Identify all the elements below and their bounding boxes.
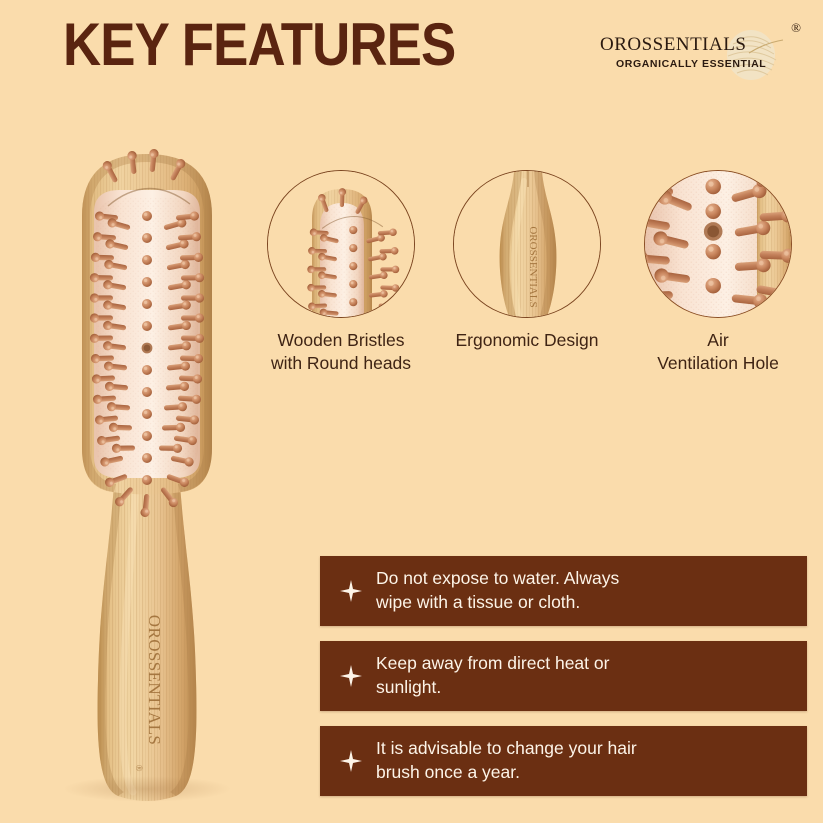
care-tip-item[interactable]: Keep away from direct heat or sunlight. (320, 641, 807, 711)
product-image-hair-brush: OROSSENTIALS ® (52, 120, 242, 810)
feature-label-air-ventilation: Air Ventilation Hole (635, 329, 801, 375)
logo-tagline: ORGANICALLY ESSENTIAL (616, 58, 766, 70)
page-title: KEY FEATURES (63, 13, 455, 76)
feature-callout-ergonomic-design[interactable]: OROSSENTIALS Ergonomic Design (444, 170, 610, 352)
svg-text:®: ® (134, 765, 144, 772)
care-tips-list: Do not expose to water. Always wipe with… (320, 556, 807, 811)
logo-wordmark: OROSSENTIALS (600, 34, 746, 56)
brush-head-closeup-icon (267, 170, 415, 318)
care-tip-text: Do not expose to water. Always wipe with… (366, 567, 619, 615)
sparkle-icon (336, 580, 366, 602)
brand-logo: OROSSENTIALS ORGANICALLY ESSENTIAL ® (592, 18, 807, 90)
infographic-canvas: KEY FEATURES OROSSENTIALS ORGANICALLY ES… (0, 0, 823, 823)
care-tip-text: It is advisable to change your hair brus… (366, 737, 637, 785)
feature-callout-wooden-bristles[interactable]: Wooden Bristles with Round heads (258, 170, 424, 375)
feature-callouts: Wooden Bristles with Round heads OROSSEN… (258, 170, 814, 390)
sparkle-icon (336, 750, 366, 772)
sparkle-icon (336, 665, 366, 687)
air-ventilation-hole (142, 343, 153, 354)
care-tip-text: Keep away from direct heat or sunlight. (366, 652, 609, 700)
svg-text:OROSSENTIALS: OROSSENTIALS (145, 615, 164, 745)
product-shadow (62, 776, 232, 802)
registered-trademark-icon: ® (791, 20, 801, 36)
feature-label-wooden-bristles: Wooden Bristles with Round heads (258, 329, 424, 375)
brush-illustration: OROSSENTIALS ® (52, 120, 242, 810)
feature-label-ergonomic-design: Ergonomic Design (444, 329, 610, 352)
care-tip-item[interactable]: Do not expose to water. Always wipe with… (320, 556, 807, 626)
svg-text:OROSSENTIALS: OROSSENTIALS (527, 226, 539, 307)
handle-closeup-icon: OROSSENTIALS (453, 170, 601, 318)
care-tip-item[interactable]: It is advisable to change your hair brus… (320, 726, 807, 796)
feature-callout-air-ventilation[interactable]: Air Ventilation Hole (635, 170, 801, 375)
ventilation-hole-closeup-icon (644, 170, 792, 318)
